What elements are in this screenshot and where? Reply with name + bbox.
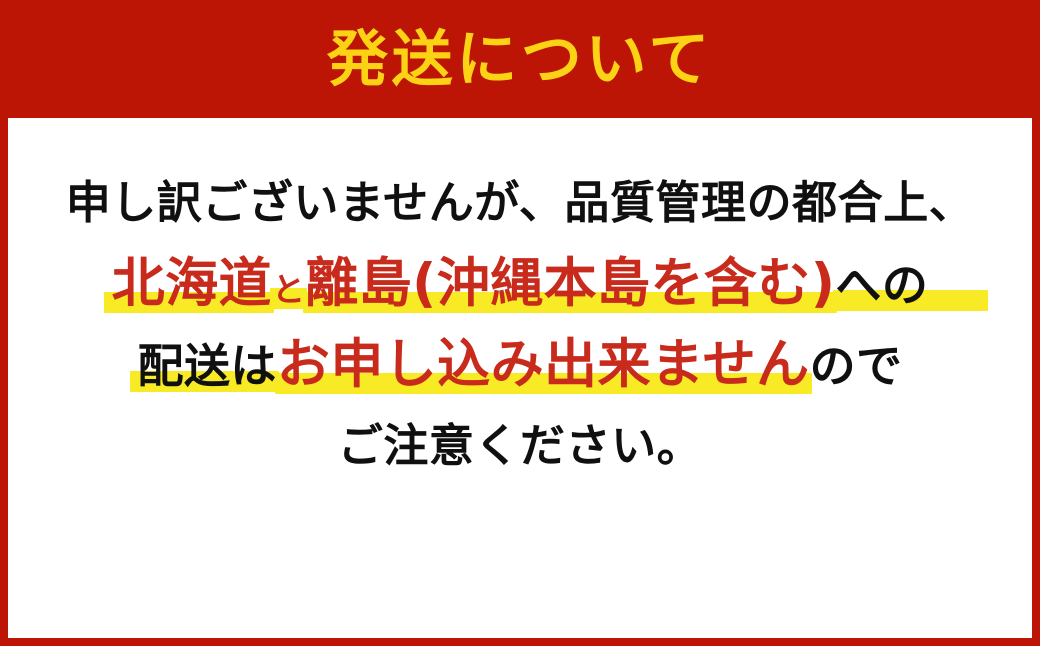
- notice-header-bar: 発送について: [0, 0, 1040, 118]
- region-hokkaido: 北海道: [112, 257, 272, 310]
- cannot-order-emphasis: お申し込み出来ません: [277, 338, 810, 391]
- shipping-notice-card: 発送について 申し訳ございませんが、品質管理の都合上、 北海道 と 離島(沖縄本…: [0, 0, 1040, 646]
- apology-text: 申し訳ございませんが、品質管理の都合上、: [66, 180, 975, 225]
- excluded-regions-line: 北海道 と 離島(沖縄本島を含む) への: [112, 257, 929, 310]
- caution-line: ご注意ください。: [338, 423, 702, 468]
- notice-body: 申し訳ございませんが、品質管理の都合上、 北海道 と 離島(沖縄本島を含む) へ…: [8, 118, 1032, 638]
- no-delivery-line: 配送は お申し込み出来ません ので: [138, 338, 903, 391]
- delivery-topic: 配送は: [138, 343, 277, 389]
- reason-particle: ので: [810, 343, 903, 389]
- region-conjunction: と: [272, 273, 305, 306]
- caution-text: ご注意ください。: [338, 423, 702, 468]
- region-destination-particle: への: [835, 262, 928, 308]
- apology-line: 申し訳ございませんが、品質管理の都合上、: [66, 180, 975, 225]
- region-remote-islands: 離島(沖縄本島を含む): [305, 257, 835, 310]
- page-title: 発送について: [327, 29, 713, 90]
